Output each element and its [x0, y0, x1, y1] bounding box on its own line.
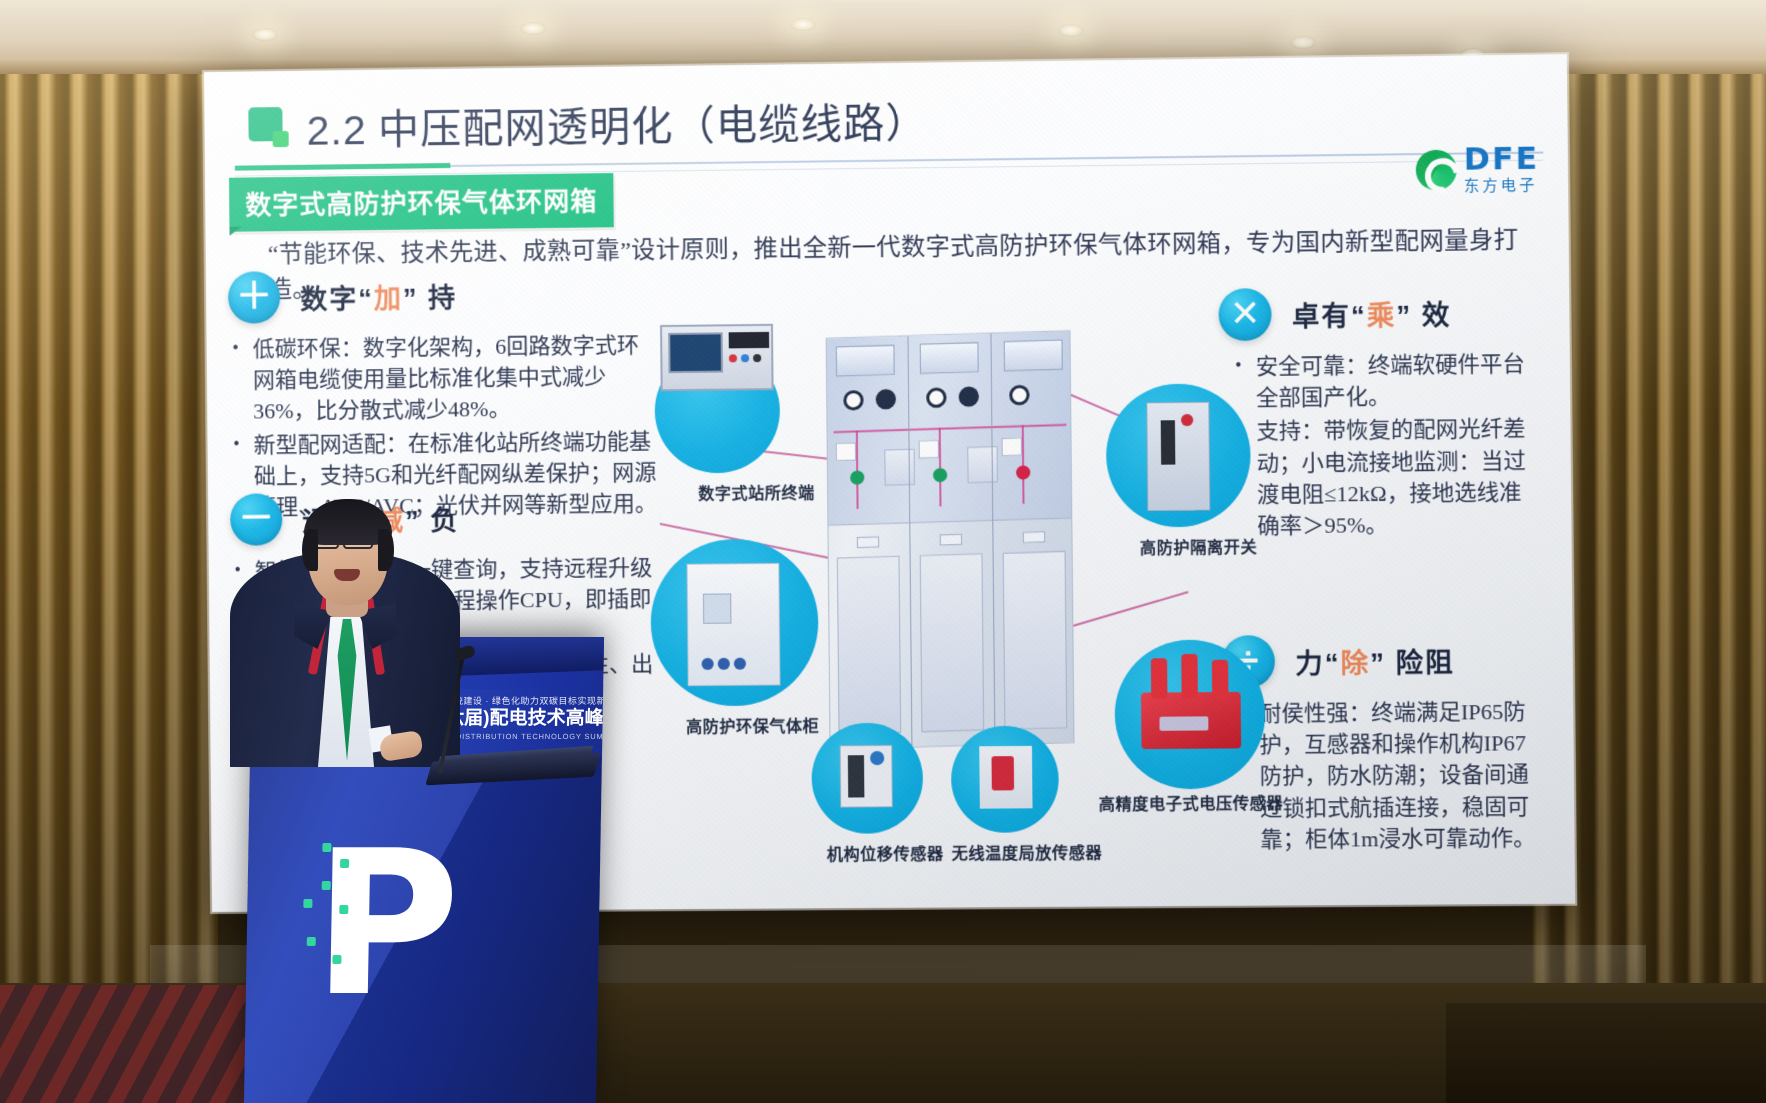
dfe-swirl-icon [1416, 149, 1457, 190]
green-square-icon [248, 107, 288, 148]
downlight-icon [1058, 24, 1084, 37]
times-icon: ✕ [1218, 288, 1271, 341]
section-tag-notch [229, 227, 241, 236]
page-title: 2.2 中压配网透明化（电缆线路） [306, 89, 928, 157]
list-item: •支持：带恢复的配网光纤差动；小电流接地监测：当过渡电阻≤12kΩ，接地选线准确… [1232, 413, 1529, 542]
title-underline-blue [450, 152, 1543, 167]
caption-wireless-temp-sensor: 无线温度局放传感器 [926, 844, 1129, 866]
photo-voltage-sensor [1114, 639, 1266, 789]
slide-title-row: 2.2 中压配网透明化（电缆线路） [248, 89, 928, 158]
list-item: •安全可靠：终端软硬件平台全部国产化。 [1231, 348, 1527, 414]
plus-icon: ＋ [228, 271, 281, 324]
downlight-icon [1290, 36, 1316, 49]
photo-gas-cabinet [650, 538, 819, 706]
feature-block-plus-title: 数字“加” 持 [300, 276, 457, 317]
photo-isolation-switch [1106, 383, 1252, 528]
speaker-person [230, 467, 460, 767]
switchgear-cabinet-illustration [826, 330, 1075, 750]
caption-isolation-switch: 高防护隔离开关 [1097, 538, 1300, 560]
floor-right [1446, 1003, 1766, 1103]
slide-title-text: 中压配网透明化（电缆线路） [378, 100, 928, 153]
conference-room-scene: 2.2 中压配网透明化（电缆线路） 数字式高防护环保气体环网箱 DFE 东方电子… [0, 0, 1766, 1103]
section-tag: 数字式高防护环保气体环网箱 [229, 173, 614, 232]
caption-gas-cabinet: 高防护环保气体柜 [652, 717, 854, 739]
dfe-wordmark-cn: 东方电子 [1464, 178, 1540, 194]
dfe-logo: DFE 东方电子 [1415, 144, 1539, 195]
photo-wireless-temp-sensor [951, 726, 1059, 833]
caption-voltage-sensor: 高精度电子式电压传感器 [1089, 794, 1292, 816]
downlight-icon [520, 22, 546, 35]
feature-block-times-title: 卓有“乘” 效 [1292, 293, 1452, 334]
slide-title-number: 2.2 [306, 107, 367, 154]
feature-block-divide-title: 力“除” 险阻 [1295, 640, 1455, 681]
dfe-wordmark: DFE [1463, 144, 1539, 176]
connector-line [1073, 591, 1188, 626]
terminal-device-illustration [660, 324, 774, 391]
downlight-icon [790, 18, 816, 31]
photo-displacement-sensor [811, 723, 923, 834]
list-item: •低碳环保：数字化架构，6回路数字式环网箱电缆使用量比标准化集中式减少36%，比… [228, 329, 661, 427]
downlight-icon [252, 28, 278, 41]
list-item: •耐侯性强：终端满足IP65防护，互感器和操作机构IP67防护，防水防潮；设备间… [1235, 696, 1542, 856]
title-underline-green [235, 163, 450, 171]
caption-station-terminal: 数字式站所终端 [656, 484, 858, 506]
